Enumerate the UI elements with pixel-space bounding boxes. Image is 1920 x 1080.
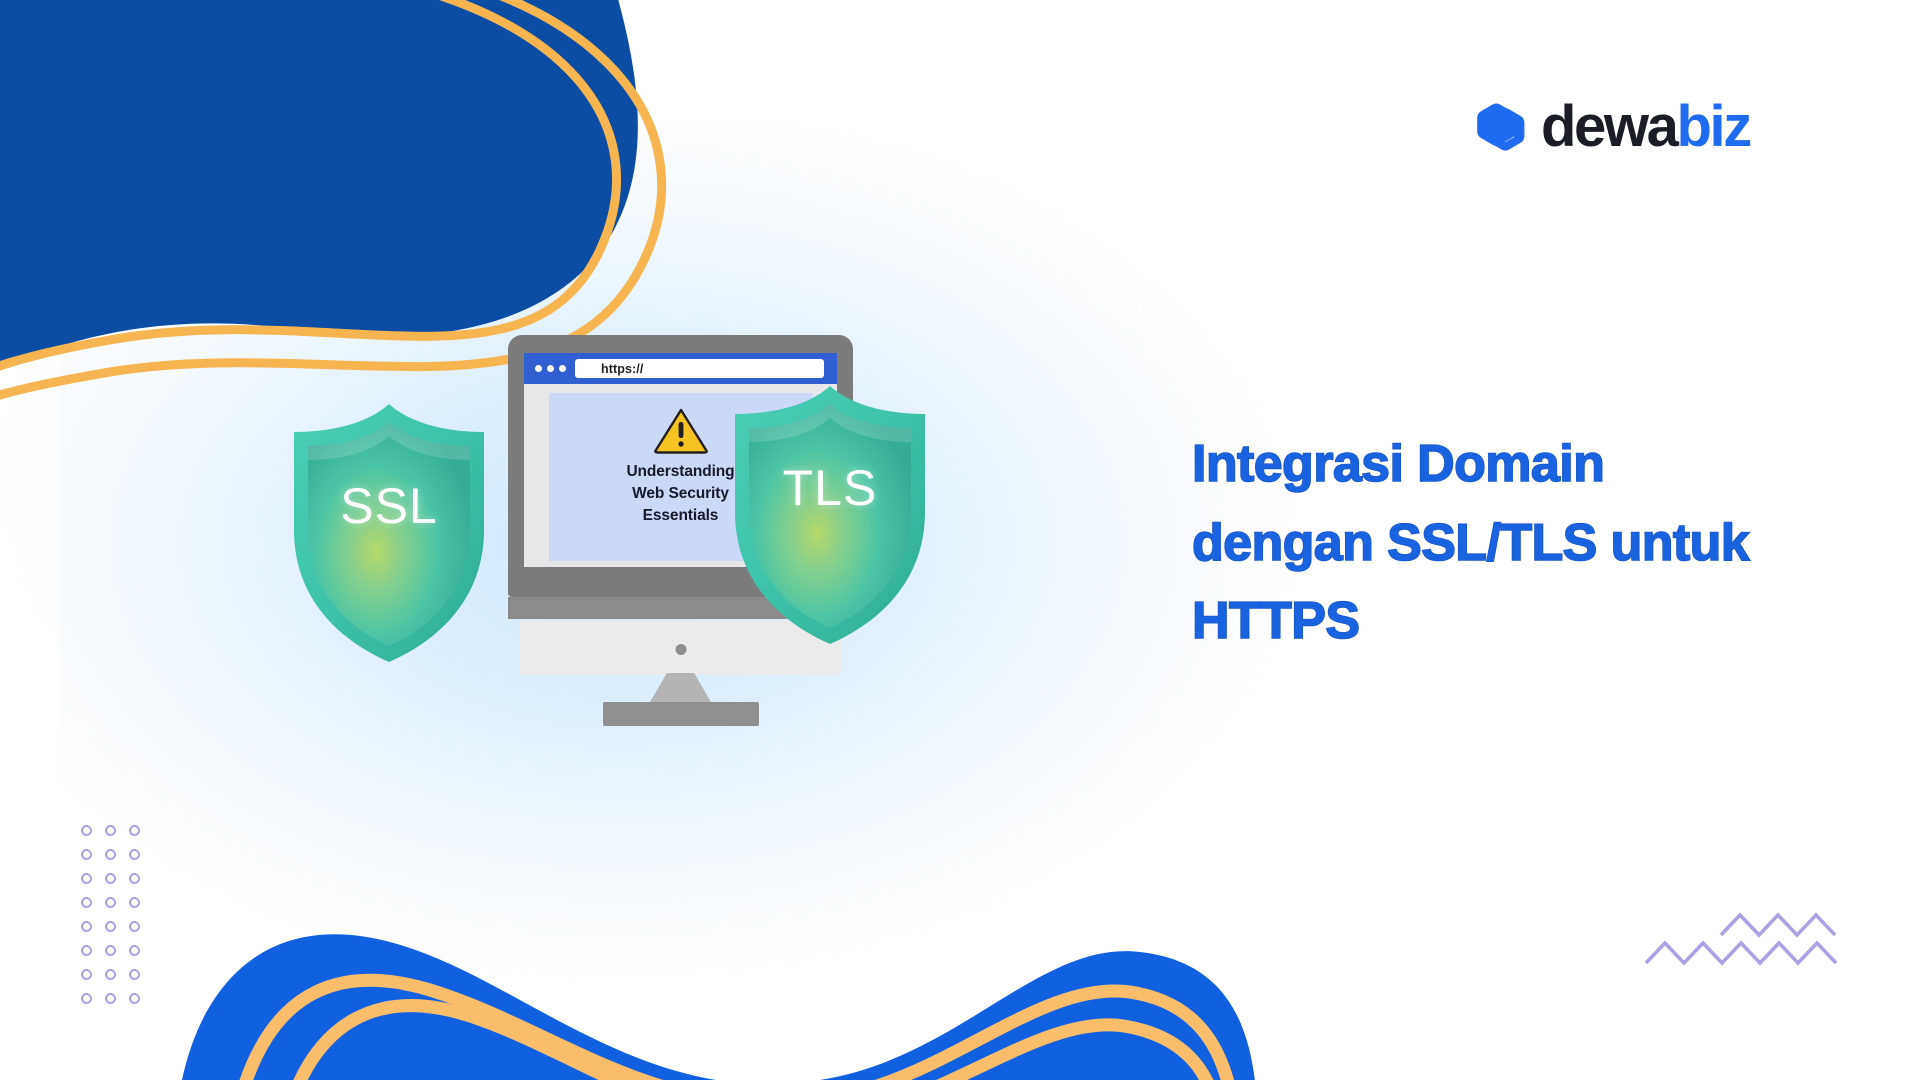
grid-dot: [105, 825, 116, 836]
brand-logo[interactable]: dewabiz: [1468, 95, 1750, 159]
grid-dot: [129, 849, 140, 860]
monitor-stand-neck: [650, 673, 712, 703]
grid-dot: [81, 969, 92, 980]
title-line-1: Integrasi Domain: [1192, 425, 1852, 504]
grid-dot: [105, 849, 116, 860]
window-dot-icon: [535, 365, 542, 372]
grid-dot: [105, 897, 116, 908]
grid-dot: [129, 825, 140, 836]
security-illustration: https:// Understanding: [300, 320, 1060, 780]
window-dot-icon: [559, 365, 566, 372]
grid-dot: [81, 873, 92, 884]
grid-dot: [105, 993, 116, 1004]
grid-dot: [105, 873, 116, 884]
zigzag-upper: [1721, 915, 1835, 935]
grid-dot: [81, 849, 92, 860]
monitor-stand-base: [603, 702, 759, 726]
grid-dot: [105, 921, 116, 932]
zigzag-lower: [1646, 943, 1836, 963]
grid-dot: [129, 993, 140, 1004]
grid-dot: [129, 921, 140, 932]
ssl-shield: SSL: [272, 398, 506, 668]
grid-dot: [129, 969, 140, 980]
page-title: Integrasi Domain dengan SSL/TLS untuk HT…: [1192, 425, 1852, 661]
grid-dot: [129, 873, 140, 884]
grid-dot: [81, 993, 92, 1004]
brand-name-primary: dewa: [1541, 94, 1676, 159]
title-line-2: dengan SSL/TLS untuk: [1192, 504, 1852, 583]
poster-canvas: https:// Understanding: [0, 0, 1920, 1080]
power-led-icon: [675, 644, 686, 655]
decor-dot-grid: [74, 818, 146, 1010]
brand-wordmark: dewabiz: [1541, 98, 1750, 156]
grid-dot: [81, 897, 92, 908]
window-dot-icon: [547, 365, 554, 372]
grid-dot: [81, 945, 92, 956]
orange-wave-outer: [240, 980, 1232, 1080]
grid-dot: [81, 921, 92, 932]
blue-wave-shape: [180, 934, 1256, 1080]
brand-name-accent: biz: [1676, 94, 1749, 159]
window-control-dots: [535, 365, 566, 372]
warning-triangle-icon: [653, 406, 709, 454]
grid-dot: [81, 825, 92, 836]
orange-wave-inner: [288, 1006, 1218, 1080]
tls-shield: TLS: [713, 380, 947, 650]
dewabiz-hexagon-logo-icon: [1468, 95, 1532, 159]
grid-dot: [105, 969, 116, 980]
grid-dot: [129, 897, 140, 908]
grid-dot: [129, 945, 140, 956]
grid-dot: [105, 945, 116, 956]
title-line-3: HTTPS: [1192, 582, 1852, 661]
address-bar[interactable]: https://: [575, 359, 824, 378]
address-bar-value: https://: [601, 362, 643, 376]
